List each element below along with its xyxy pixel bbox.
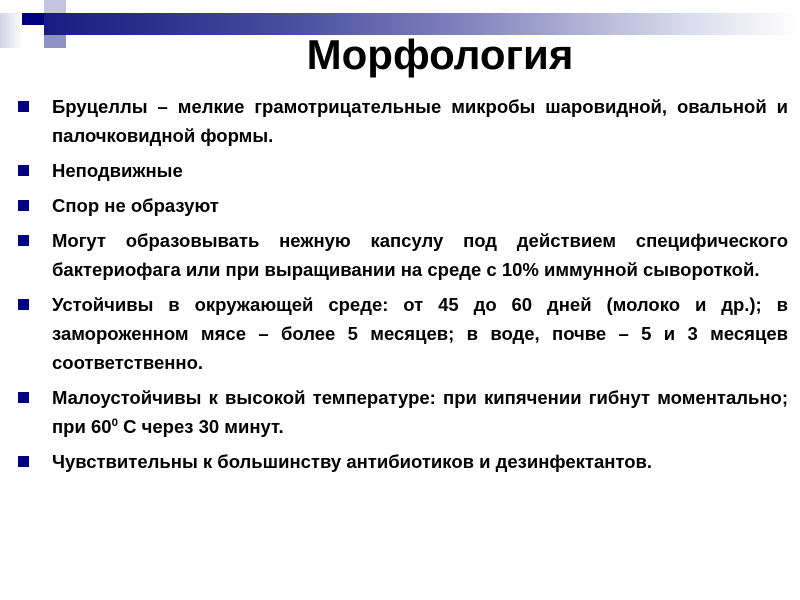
bullet-text-immotile: Неподвижные [52, 156, 788, 185]
list-item: Могут образовывать нежную капсулу под де… [18, 226, 788, 284]
square-bullet-icon [18, 299, 29, 310]
square-bullet-icon [18, 456, 29, 467]
square-bullet-icon [18, 392, 29, 403]
heat-text-after: С через 30 минут. [118, 416, 284, 437]
list-item: Бруцеллы – мелкие грамотрицательные микр… [18, 92, 788, 150]
bullet-text-capsule: Могут образовывать нежную капсулу под де… [52, 226, 788, 284]
page-title: Морфология [0, 30, 800, 80]
list-item: Спор не образуют [18, 191, 788, 220]
list-item: Малоустойчивы к высокой температуре: при… [18, 383, 788, 441]
square-bullet-icon [18, 235, 29, 246]
bullet-text-antibiotic-sensitivity: Чувствительны к большинству антибиотиков… [52, 447, 788, 476]
bullet-list: Бруцеллы – мелкие грамотрицательные микр… [18, 92, 788, 482]
list-item: Устойчивы в окружающей среде: от 45 до 6… [18, 290, 788, 377]
deco-square-dark-a [22, 13, 44, 25]
presentation-slide: Морфология Бруцеллы – мелкие грамотрицат… [0, 0, 800, 600]
square-bullet-icon [18, 200, 29, 211]
bullet-text-heat-sensitivity: Малоустойчивы к высокой температуре: при… [52, 383, 788, 441]
list-item: Чувствительны к большинству антибиотиков… [18, 447, 788, 476]
list-item: Неподвижные [18, 156, 788, 185]
bullet-text-morphology: Бруцеллы – мелкие грамотрицательные микр… [52, 92, 788, 150]
square-bullet-icon [18, 165, 29, 176]
deco-square-light-a [44, 0, 66, 13]
bullet-text-environment-stability: Устойчивы в окружающей среде: от 45 до 6… [52, 290, 788, 377]
bullet-text-no-spores: Спор не образуют [52, 191, 788, 220]
square-bullet-icon [18, 101, 29, 112]
